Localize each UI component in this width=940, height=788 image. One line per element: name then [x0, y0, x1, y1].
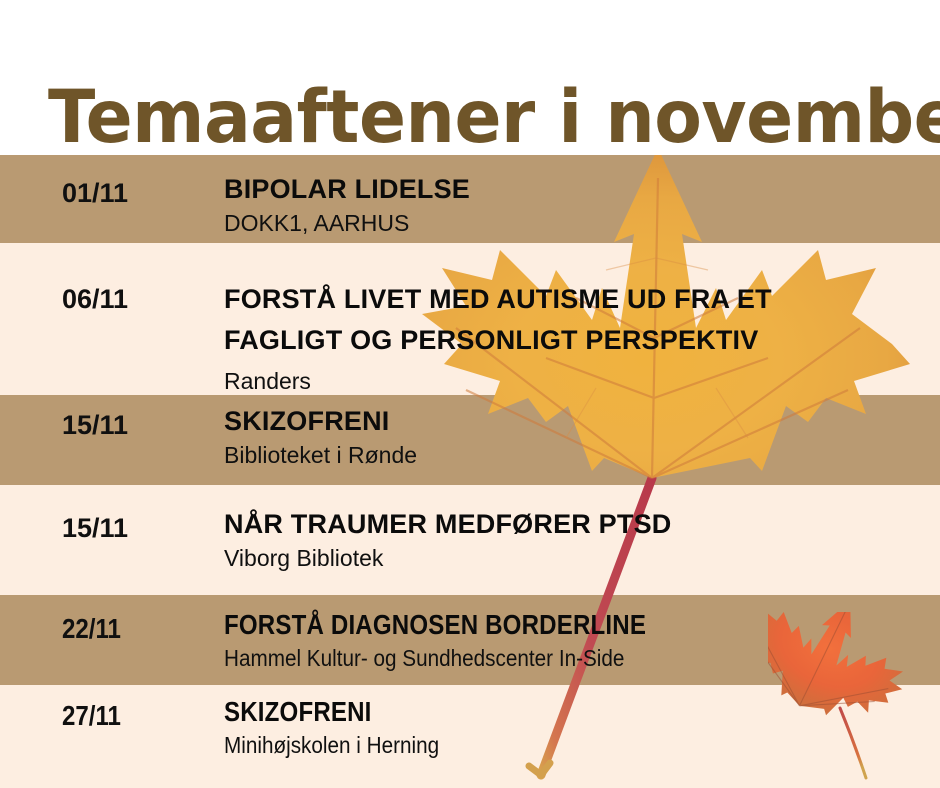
event-title: SKIZOFRENI [224, 405, 924, 438]
event-date: 22/11 [62, 613, 121, 645]
event-body: SKIZOFRENI Biblioteket i Rønde [224, 405, 924, 470]
event-body: FORSTÅ DIAGNOSEN BORDERLINE Hammel Kultu… [224, 608, 924, 673]
event-location: DOKK1, AARHUS [224, 209, 924, 238]
event-location: Minihøjskolen i Herning [224, 731, 854, 760]
event-date: 27/11 [62, 700, 121, 732]
event-date: 15/11 [62, 512, 128, 544]
event-body: BIPOLAR LIDELSE DOKK1, AARHUS [224, 173, 924, 238]
event-location: Biblioteket i Rønde [224, 441, 924, 470]
event-date: 01/11 [62, 177, 128, 209]
event-title: NÅR TRAUMER MEDFØRER PTSD [224, 508, 924, 541]
event-title: BIPOLAR LIDELSE [224, 173, 924, 206]
event-date: 06/11 [62, 283, 128, 315]
event-location: Hammel Kultur- og Sundhedscenter In-Side [224, 644, 854, 673]
event-body: SKIZOFRENI Minihøjskolen i Herning [224, 695, 924, 760]
page-title: Temaaftener i november [48, 75, 865, 161]
event-body: NÅR TRAUMER MEDFØRER PTSD Viborg Bibliot… [224, 508, 924, 573]
event-location: Viborg Bibliotek [224, 544, 924, 573]
event-body: FORSTÅ LIVET MED AUTISME UD FRA ET FAGLI… [224, 279, 924, 396]
event-location: Randers [224, 367, 924, 396]
event-date: 15/11 [62, 409, 128, 441]
event-title: FORSTÅ DIAGNOSEN BORDERLINE [224, 608, 826, 641]
event-title: FORSTÅ LIVET MED AUTISME UD FRA ET FAGLI… [224, 279, 924, 361]
event-title: SKIZOFRENI [224, 695, 826, 728]
poster-canvas: 01/11 BIPOLAR LIDELSE DOKK1, AARHUS 06/1… [0, 0, 940, 788]
title-bar: Temaaftener i november [0, 0, 940, 155]
